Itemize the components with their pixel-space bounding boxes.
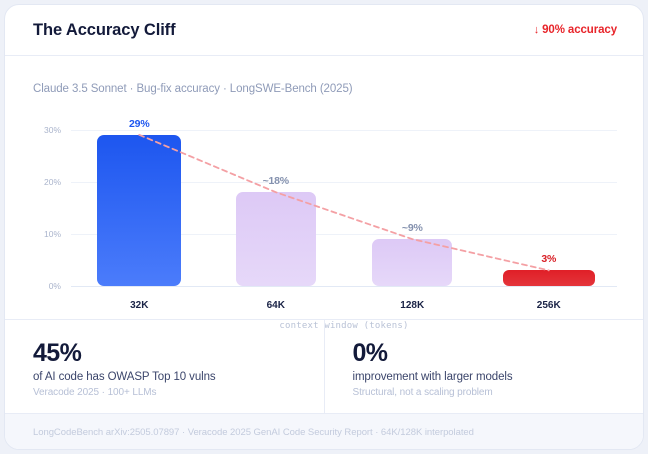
stat-value: 45% <box>33 340 324 366</box>
stat-card-improvement: 0% improvement with larger models Struct… <box>324 320 644 413</box>
card-footer: LongCodeBench arXiv:2505.07897 · Veracod… <box>5 414 643 450</box>
accuracy-cliff-card: The Accuracy Cliff ↓ 90% accuracy Claude… <box>4 4 644 450</box>
x-axis-label: 128K <box>400 300 424 311</box>
bar-group[interactable]: 29%32K <box>97 114 181 286</box>
stat-value: 0% <box>353 340 644 366</box>
arrow-down-icon: ↓ <box>534 25 539 36</box>
chart-section: Claude 3.5 Sonnet · Bug-fix accuracy · L… <box>5 56 643 320</box>
x-axis-label: 32K <box>130 300 148 311</box>
card-header: The Accuracy Cliff ↓ 90% accuracy <box>5 5 643 56</box>
bar-64K[interactable] <box>236 192 316 286</box>
bar-group[interactable]: 3%256K <box>503 114 595 286</box>
stat-label: improvement with larger models <box>353 371 644 383</box>
stat-note: Structural, not a scaling problem <box>353 387 644 398</box>
bar-value-label: ~18% <box>263 175 289 187</box>
stat-card-owasp: 45% of AI code has OWASP Top 10 vulns Ve… <box>5 320 324 413</box>
bar-value-label: 3% <box>541 253 556 265</box>
stats-row: 45% of AI code has OWASP Top 10 vulns Ve… <box>5 320 643 414</box>
bar-32K[interactable] <box>97 135 181 286</box>
bar-value-label: ~9% <box>402 222 423 234</box>
bar-group[interactable]: ~18%64K <box>236 114 316 286</box>
y-axis-tick: 20% <box>44 177 61 187</box>
chart-subtitle: Claude 3.5 Sonnet · Bug-fix accuracy · L… <box>33 83 352 95</box>
x-axis-label: 256K <box>537 300 561 311</box>
bar-chart: 0%10%20%30% 29%32K~18%64K~9%128K3%256K c… <box>33 114 617 286</box>
status-badge-label: 90% accuracy <box>542 24 617 36</box>
bars-layer: 29%32K~18%64K~9%128K3%256K <box>71 114 617 286</box>
status-badge: ↓ 90% accuracy <box>534 24 617 36</box>
stat-label: of AI code has OWASP Top 10 vulns <box>33 371 324 383</box>
bar-256K[interactable] <box>503 270 595 286</box>
grid-line <box>71 286 617 287</box>
bar-128K[interactable] <box>372 239 452 286</box>
footer-citation: LongCodeBench arXiv:2505.07897 · Veracod… <box>33 427 474 438</box>
y-axis: 0%10%20%30% <box>33 114 67 286</box>
y-axis-tick: 30% <box>44 125 61 135</box>
y-axis-tick: 0% <box>49 281 61 291</box>
y-axis-tick: 10% <box>44 229 61 239</box>
page-title: The Accuracy Cliff <box>33 21 175 40</box>
bar-group[interactable]: ~9%128K <box>372 114 452 286</box>
x-axis-label: 64K <box>267 300 285 311</box>
stat-note: Veracode 2025 · 100+ LLMs <box>33 387 324 398</box>
bar-value-label: 29% <box>129 118 149 130</box>
